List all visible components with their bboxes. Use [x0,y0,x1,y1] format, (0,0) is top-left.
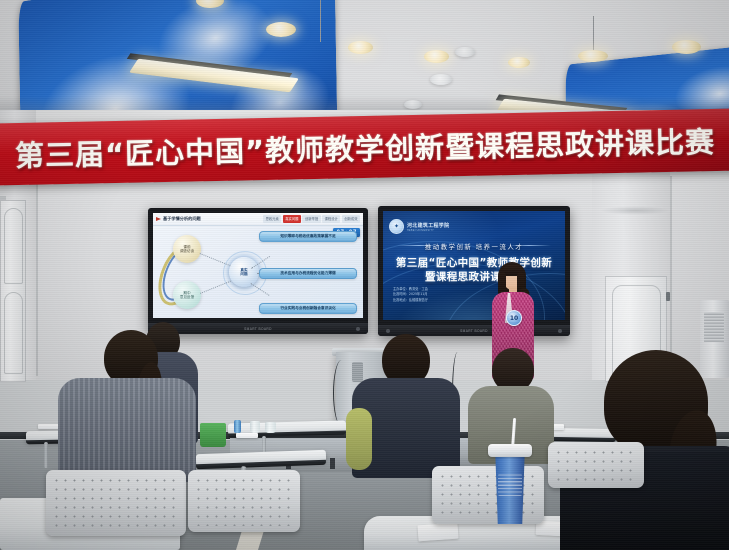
node-line-2: 调查访谈 [180,249,194,253]
power-led-icon [386,329,390,333]
downlight-icon [424,50,449,63]
chair-back-right[interactable] [548,442,644,488]
contestant-badge: 10 [506,310,522,326]
door-panel [4,208,23,284]
wall-smudge [600,206,670,215]
slide-tagline: 推动教学创新 培养一流人才 [383,242,565,251]
left-slide-title: 基于学情分析的问题 [163,216,201,222]
credit-line-3: 比赛地点：弘毅楼报告厅 [393,298,428,303]
coffee-cup-lid [488,444,532,457]
chair-perforation [52,476,180,530]
downlight-icon [455,47,475,57]
tab-0[interactable]: 思政元素 [263,215,281,223]
chair-mid-right[interactable] [432,466,544,524]
tab-2[interactable]: 创新举措 [302,215,320,223]
classroom-photo-scene: 第三届“匠心中国”教师教学创新暨课程思政讲课比赛 基于学情分析的问题 思政元素 … [0,0,729,550]
trash-bin [200,423,226,447]
sensor-icon [558,329,562,333]
downlight-icon [266,22,296,37]
slide-credits: 主办单位：教务处 · 工会 比赛时间：2025年11月 比赛地点：弘毅楼报告厅 [393,287,428,303]
chair-mid-left[interactable] [188,470,300,532]
bullet-marker-icon [156,217,161,221]
desk-papers [236,433,258,438]
chair-perforation [554,448,638,482]
university-name-latin: HEBEI UNIVERSITY [407,229,449,232]
tab-3[interactable]: 课程设计 [322,215,340,223]
wall-seam [36,176,38,376]
paper-cup [265,422,276,433]
slide-topbar: 基于学情分析的问题 思政元素 真实问题 创新举措 课程设计 创新成效 [153,213,363,226]
credit-line-2: 比赛时间：2025年11月 [393,292,428,297]
chair-front-left[interactable] [46,470,186,536]
pendant-rod [320,0,321,42]
downlight-icon [430,74,452,85]
audience-mid-left [352,334,460,476]
ceiling [0,0,729,118]
node-line-2: 问题 [240,272,247,276]
pendant-rod [593,16,594,52]
door-left[interactable] [0,200,26,382]
connector-line [200,281,231,294]
person-torso [58,378,196,482]
downlight-icon [508,57,530,68]
university-name: 河北建筑工程学院 [407,222,449,229]
vent-grille [704,312,724,342]
chair-perforation [194,476,294,526]
downlight-icon [672,40,701,54]
door-panel [4,292,23,374]
downlight-icon [348,41,373,54]
display-left[interactable]: 基于学情分析的问题 思政元素 真实问题 创新举措 课程设计 创新成效 07:07… [148,208,368,334]
mindmap-node-survey: 课前 调查访谈 [173,235,201,263]
door-hinge-icon [666,292,670,301]
university-logo: ✦ 河北建筑工程学院 HEBEI UNIVERSITY [389,219,449,234]
wall-seam [670,176,672,376]
display-right[interactable]: ✦ 河北建筑工程学院 HEBEI UNIVERSITY 推动教学创新 培养一流人… [378,206,570,336]
mindmap-node-feedback: 期中 意见反馈 [173,281,201,309]
tab-1-active[interactable]: 真实问题 [283,215,301,223]
water-bottle [234,420,241,433]
bezel-brand: SMART BOARD [460,329,488,333]
platform-clip [330,458,335,469]
issue-bar-2: 技术应用与办税流程优化能力薄弱 [259,268,357,279]
university-seal-icon: ✦ [389,219,404,234]
paper-cup [250,421,260,433]
person-sleeve [346,408,372,470]
sensor-icon [356,327,360,331]
issue-bar-1: 知识零碎与税收优惠政策掌握不足 [259,231,357,242]
left-slide-canvas: 基于学情分析的问题 思政元素 真实问题 创新举措 课程设计 创新成效 07:07… [153,213,363,318]
tab-4[interactable]: 创新成效 [342,215,360,223]
desk-leg [44,442,48,468]
desk-papers [417,523,458,542]
node-line-2: 意见反馈 [180,295,194,299]
slide-tab-strip[interactable]: 思政元素 真实问题 创新举措 课程设计 创新成效 [263,215,360,223]
audience-front-left [52,330,202,480]
coffee-cup-label [498,474,522,496]
pendant-lamp-icon [578,50,608,62]
issue-bar-3: 行业实践与业税创新融合意识淡化 [259,303,357,314]
mindmap-node-core: 真实 问题 [229,257,259,287]
bezel-brand: SMART BOARD [244,327,272,331]
